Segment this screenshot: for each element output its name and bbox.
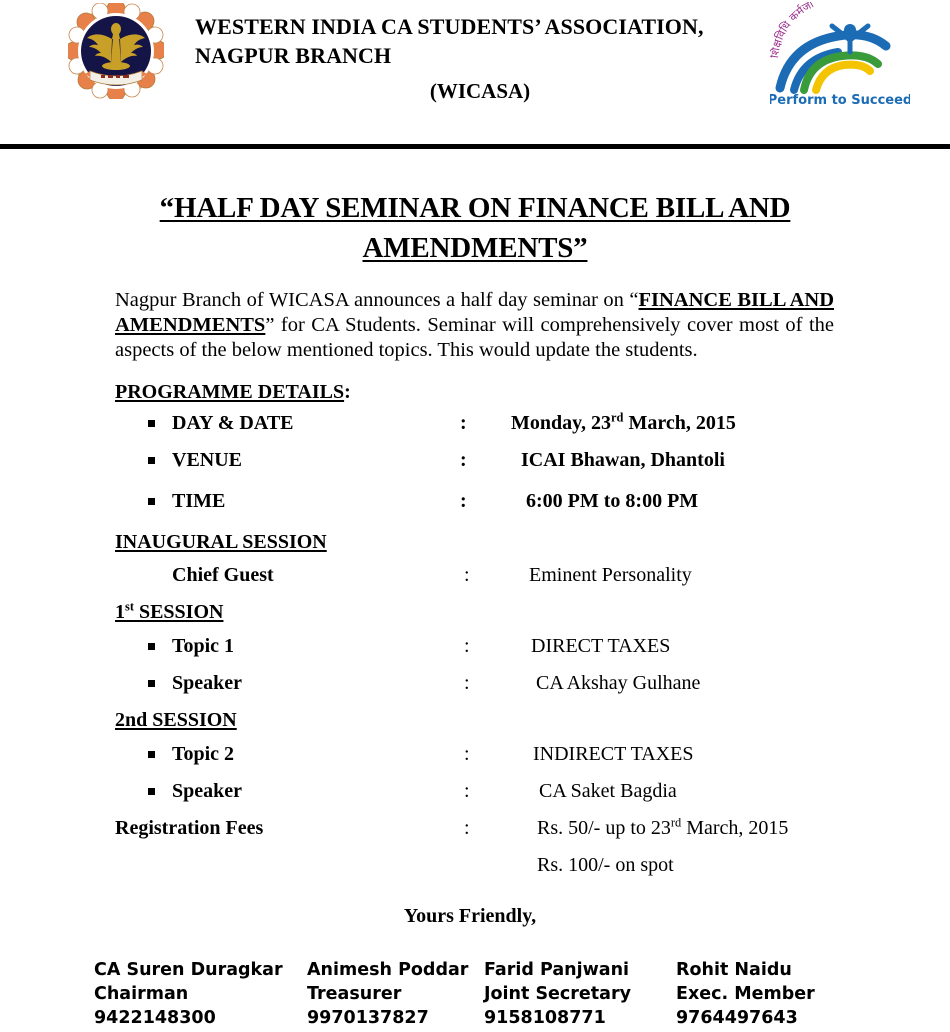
inaugural-session-heading: INAUGURAL SESSION [0, 531, 950, 554]
session-1-heading-number: 1 [115, 601, 125, 623]
signatory-role: Treasurer [307, 982, 468, 1006]
session-1-heading-superscript: st [125, 599, 134, 613]
detail-label: Topic 2 [172, 743, 234, 766]
signatory-name: Rohit Naidu [676, 958, 815, 982]
session-1-heading-text: 1st SESSION [115, 601, 223, 623]
detail-label: Topic 1 [172, 635, 234, 658]
detail-value: CA Akshay Gulhane [536, 672, 700, 695]
detail-label: TIME [172, 490, 225, 513]
signatory: Rohit Naidu Exec. Member 9764497643 [676, 958, 815, 1030]
square-bullet-icon [148, 498, 155, 505]
square-bullet-icon [148, 788, 155, 795]
square-bullet-icon [148, 680, 155, 687]
programme-details-heading-colon: : [344, 381, 351, 403]
detail-label: Speaker [172, 780, 242, 803]
document-body: “HALF DAY SEMINAR ON FINANCE BILL AND AM… [0, 150, 950, 928]
detail-value-post: March, 2015 [623, 412, 735, 434]
org-title-line-2: NAGPUR BRANCH [190, 41, 770, 70]
detail-colon: : [460, 490, 467, 513]
detail-row-topic-1: Topic 1 : DIRECT TAXES [0, 635, 950, 672]
signatory-role: Joint Secretary [484, 982, 631, 1006]
square-bullet-icon [148, 457, 155, 464]
detail-value-superscript: rd [611, 410, 623, 424]
detail-row-speaker-1: Speaker : CA Akshay Gulhane [0, 672, 950, 709]
signatory-phone: 9422148300 [94, 1006, 283, 1030]
detail-colon: : [464, 743, 470, 766]
square-bullet-icon [148, 420, 155, 427]
document-header: WESTERN INDIA CA STUDENTS’ ASSOCIATION, … [0, 0, 950, 128]
detail-label: DAY & DATE [172, 412, 294, 435]
signatory-name: Animesh Poddar [307, 958, 468, 982]
signatory: Farid Panjwani Joint Secretary 915810877… [484, 958, 631, 1030]
session-1-heading: 1st SESSION [0, 601, 950, 624]
closing-salutation: Yours Friendly, [0, 905, 950, 928]
detail-value-pre: Monday, 23 [511, 412, 611, 434]
detail-colon: : [464, 817, 470, 840]
organization-abbreviation: (WICASA) [190, 79, 770, 104]
detail-value: Eminent Personality [529, 564, 692, 587]
session-1-heading-rest: SESSION [134, 601, 224, 623]
signatory-role: Exec. Member [676, 982, 815, 1006]
signatory-name: Farid Panjwani [484, 958, 631, 982]
detail-row-registration-fees: Registration Fees : Rs. 50/- up to 23rd … [0, 817, 950, 854]
detail-label: VENUE [172, 449, 242, 472]
detail-value: CA Saket Bagdia [539, 780, 677, 803]
wicasa-perform-to-succeed-logo-icon: शिक्षविधि कर्मजा Perform to Succeed [770, 2, 910, 110]
intro-part-1: Nagpur Branch of WICASA announces a half… [115, 289, 639, 311]
detail-value: ICAI Bhawan, Dhantoli [521, 449, 725, 472]
detail-label: Speaker [172, 672, 242, 695]
detail-value: INDIRECT TAXES [533, 743, 693, 766]
square-bullet-icon [148, 751, 155, 758]
icai-emblem-icon [68, 3, 164, 99]
logo-tagline-text: Perform to Succeed [770, 93, 910, 108]
detail-row-time: TIME : 6:00 PM to 8:00 PM [0, 490, 950, 527]
registration-fees-value: Rs. 50/- up to 23rd March, 2015 [537, 817, 788, 840]
signature-block: CA Suren Duragkar Chairman 9422148300 An… [0, 958, 950, 1032]
detail-value: DIRECT TAXES [531, 635, 670, 658]
detail-row-day-date: DAY & DATE : Monday, 23rd March, 2015 [0, 412, 950, 449]
signatory-name: CA Suren Duragkar [94, 958, 283, 982]
square-bullet-icon [148, 643, 155, 650]
detail-value: 6:00 PM to 8:00 PM [526, 490, 698, 513]
signatory: Animesh Poddar Treasurer 9970137827 [307, 958, 468, 1030]
detail-row-speaker-2: Speaker : CA Saket Bagdia [0, 780, 950, 817]
detail-row-topic-2: Topic 2 : INDIRECT TAXES [0, 743, 950, 780]
registration-fees-value-pre: Rs. 50/- up to 23 [537, 817, 671, 839]
organization-title: WESTERN INDIA CA STUDENTS’ ASSOCIATION, … [190, 12, 770, 70]
signatory-phone: 9158108771 [484, 1006, 631, 1030]
detail-colon: : [460, 449, 467, 472]
detail-row-chief-guest: Chief Guest : Eminent Personality [0, 564, 950, 601]
detail-colon: : [464, 635, 470, 658]
signatory-phone: 9764497643 [676, 1006, 815, 1030]
inaugural-session-heading-text: INAUGURAL SESSION [115, 531, 327, 553]
org-title-line-1: WESTERN INDIA CA STUDENTS’ ASSOCIATION, [190, 12, 770, 41]
programme-details-heading-text: PROGRAMME DETAILS [115, 381, 344, 403]
session-2-heading-text: 2nd SESSION [115, 709, 237, 731]
session-2-heading: 2nd SESSION [0, 709, 950, 732]
detail-row-venue: VENUE : ICAI Bhawan, Dhantoli [0, 449, 950, 486]
seminar-title: “HALF DAY SEMINAR ON FINANCE BILL AND AM… [0, 188, 950, 268]
seminar-title-text: “HALF DAY SEMINAR ON FINANCE BILL AND AM… [160, 192, 791, 264]
detail-label: Chief Guest [172, 564, 274, 587]
detail-value: Monday, 23rd March, 2015 [511, 412, 736, 435]
registration-fees-spot-value: Rs. 100/- on spot [537, 854, 674, 877]
intro-paragraph: Nagpur Branch of WICASA announces a half… [0, 288, 950, 363]
signatory-role: Chairman [94, 982, 283, 1006]
detail-colon: : [464, 780, 470, 803]
detail-colon: : [464, 672, 470, 695]
detail-colon: : [464, 564, 470, 587]
registration-fees-value-post: March, 2015 [681, 817, 788, 839]
programme-details-heading: PROGRAMME DETAILS: [0, 381, 950, 404]
registration-fees-label: Registration Fees [115, 817, 263, 840]
signatory-phone: 9970137827 [307, 1006, 468, 1030]
detail-row-registration-fees-spot: Rs. 100/- on spot [0, 854, 950, 891]
registration-fees-superscript: rd [671, 815, 681, 829]
detail-colon: : [460, 412, 467, 435]
signatory: CA Suren Duragkar Chairman 9422148300 [94, 958, 283, 1030]
header-divider [0, 144, 950, 149]
